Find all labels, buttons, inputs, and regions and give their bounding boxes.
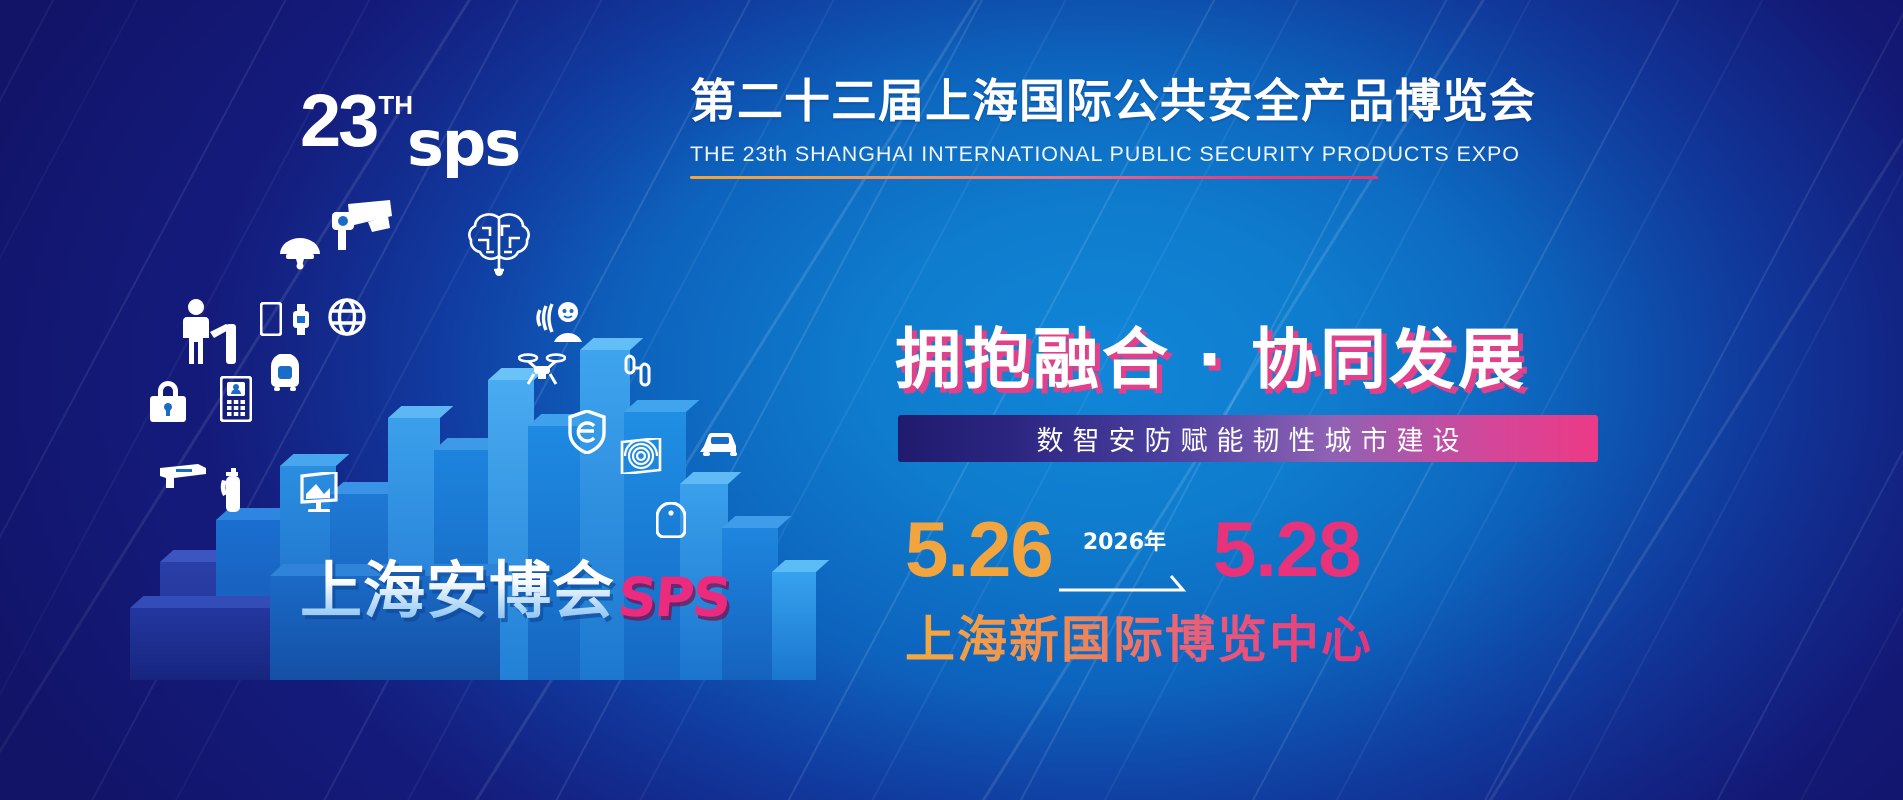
- cctv-camera-icon: [328, 198, 394, 250]
- date-range-connector: 2026年: [1059, 510, 1207, 600]
- artwork-wordmark: 上海安博会 SPS: [300, 540, 720, 650]
- date-year: 2026年: [1083, 524, 1166, 556]
- expo-logo: 23 TH sps: [300, 88, 519, 178]
- access-control-panel-icon: [220, 376, 252, 422]
- artwork-text-chinese: 上海安博会: [300, 540, 615, 630]
- event-dates: 5.26 2026年 5.28: [905, 510, 1361, 602]
- expo-title-chinese: 第二十三届上海国际公共安全产品博览会: [690, 76, 1380, 128]
- dome-camera-icon: [278, 236, 322, 270]
- main-slogan: 拥抱融合 · 协同发展: [895, 306, 1527, 402]
- security-gate-person-icon: [180, 298, 240, 368]
- drone-icon: [518, 352, 566, 386]
- shield-e-icon: [568, 410, 606, 454]
- smartwatch-icon: [292, 304, 310, 336]
- artwork-text-sps: SPS: [615, 566, 732, 629]
- logo-wordmark-sps: sps: [407, 116, 519, 172]
- venue-name: 上海新国际博览中心: [905, 600, 1373, 672]
- date-start: 5.26: [905, 510, 1053, 588]
- event-banner: 23 TH sps 第二十三届上海国际公共安全产品博览会 THE 23th SH…: [0, 0, 1903, 800]
- tablet-icon: [260, 302, 282, 336]
- car-icon: [700, 432, 740, 458]
- date-end: 5.28: [1213, 510, 1361, 588]
- globe-icon: [328, 298, 366, 336]
- date-arrow-icon: [1059, 572, 1205, 594]
- face-recognition-icon: [536, 300, 586, 342]
- padlock-icon: [148, 376, 188, 424]
- header-title-block: 第二十三届上海国际公共安全产品博览会 THE 23th SHANGHAI INT…: [690, 76, 1380, 179]
- expo-title-english: THE 23th SHANGHAI INTERNATIONAL PUBLIC S…: [690, 142, 1380, 167]
- sub-slogan-bar: 数智安防赋能韧性城市建设: [898, 415, 1598, 462]
- helmet-icon: [656, 502, 686, 538]
- ai-brain-icon: [466, 206, 532, 276]
- sub-slogan-text: 数智安防赋能韧性城市建设: [1028, 419, 1469, 458]
- fingerprint-icon: [620, 438, 662, 474]
- city-bar: [772, 572, 816, 680]
- logo-edition-number: 23: [300, 88, 376, 155]
- scanner-gun-icon: [158, 458, 208, 492]
- fire-extinguisher-icon: [218, 468, 248, 514]
- robot-icon: [268, 354, 302, 392]
- header-divider-rule: [690, 176, 1378, 179]
- handcuffs-icon: [624, 354, 652, 388]
- monitor-icon: [300, 472, 340, 512]
- city-bar: [722, 528, 778, 680]
